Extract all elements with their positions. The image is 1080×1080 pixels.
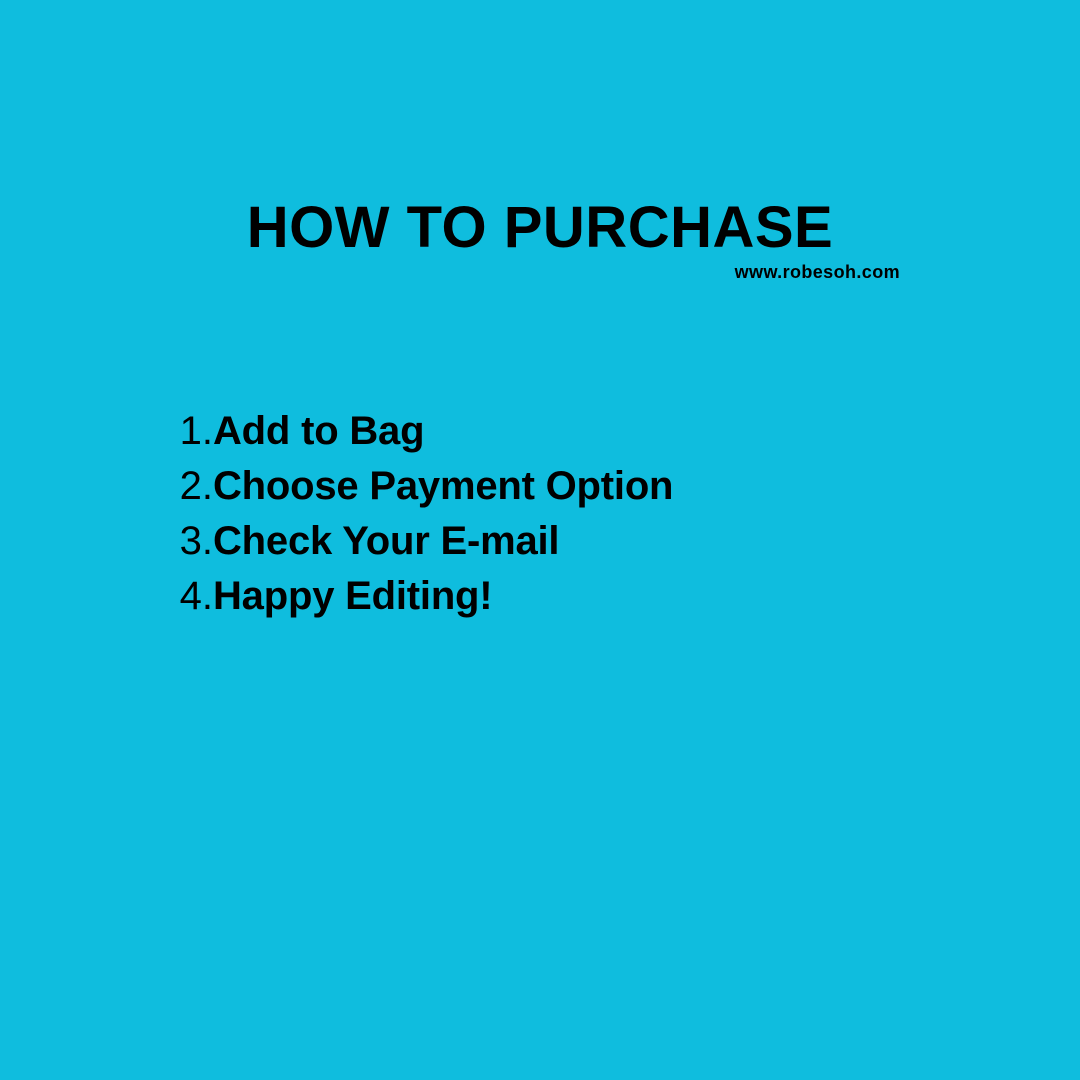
step-number: 4. — [0, 569, 213, 624]
list-item: 2. Choose Payment Option — [0, 459, 1080, 514]
step-number: 2. — [0, 459, 213, 514]
step-label: Happy Editing! — [213, 569, 492, 624]
list-item: 1. Add to Bag — [0, 404, 1080, 459]
step-label: Choose Payment Option — [213, 459, 673, 514]
list-item: 3. Check Your E-mail — [0, 514, 1080, 569]
promo-poster: HOW TO PURCHASE www.robesoh.com 1. Add t… — [0, 0, 1080, 1080]
purchase-steps-list: 1. Add to Bag 2. Choose Payment Option 3… — [0, 404, 1080, 624]
list-item: 4. Happy Editing! — [0, 569, 1080, 624]
header-block: HOW TO PURCHASE www.robesoh.com — [0, 196, 1080, 284]
step-label: Add to Bag — [213, 404, 424, 459]
website-url: www.robesoh.com — [0, 260, 1080, 284]
step-label: Check Your E-mail — [213, 514, 559, 569]
step-number: 1. — [0, 404, 213, 459]
page-title: HOW TO PURCHASE — [0, 196, 1080, 260]
step-number: 3. — [0, 514, 213, 569]
